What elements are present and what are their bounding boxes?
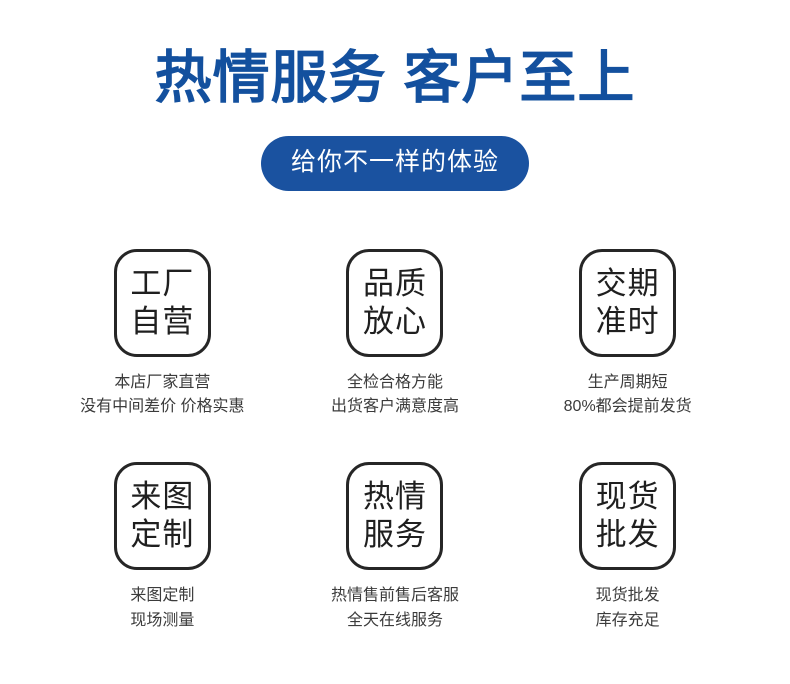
badge-line-1: 工厂 [130,265,194,303]
badge-box: 来图 定制 [114,462,211,570]
feature-card-on-time-delivery: 交期 准时 生产周期短 80%都会提前发货 [511,249,744,421]
caption-line-2: 全天在线服务 [331,609,459,634]
subtitle-container: 给你不一样的体验 [0,136,790,191]
banner-header: 热情服务 客户至上 给你不一样的体验 [0,0,790,191]
caption-line-1: 本店厂家直营 [80,371,244,396]
feature-caption: 本店厂家直营 没有中间差价 价格实惠 [80,371,244,421]
caption-line-1: 全检合格方能 [331,371,459,396]
badge-line-2: 批发 [596,516,660,554]
feature-card-custom-from-drawing: 来图 定制 来图定制 现场测量 [46,462,279,634]
badge-line-1: 交期 [596,265,660,303]
subtitle-badge: 给你不一样的体验 [261,136,529,191]
feature-caption: 来图定制 现场测量 [130,584,194,634]
badge-line-1: 品质 [363,265,427,303]
caption-line-1: 来图定制 [130,584,194,609]
caption-line-2: 没有中间差价 价格实惠 [80,395,244,420]
feature-caption: 全检合格方能 出货客户满意度高 [331,371,459,421]
badge-box: 品质 放心 [346,249,443,357]
caption-line-2: 出货客户满意度高 [331,395,459,420]
badge-line-1: 来图 [130,478,194,516]
badge-box: 现货 批发 [579,462,676,570]
feature-card-quality-assured: 品质 放心 全检合格方能 出货客户满意度高 [279,249,512,421]
badge-line-1: 现货 [596,478,660,516]
badge-line-2: 准时 [596,303,660,341]
feature-card-enthusiastic-service: 热情 服务 热情售前售后客服 全天在线服务 [279,462,512,634]
badge-line-2: 自营 [130,303,194,341]
feature-card-in-stock-wholesale: 现货 批发 现货批发 库存充足 [511,462,744,634]
badge-box: 交期 准时 [579,249,676,357]
caption-line-2: 现场测量 [130,609,194,634]
feature-grid: 工厂 自营 本店厂家直营 没有中间差价 价格实惠 品质 放心 全检合格方能 出货… [0,249,790,634]
badge-line-1: 热情 [363,478,427,516]
service-promise-banner: 热情服务 客户至上 给你不一样的体验 工厂 自营 本店厂家直营 没有中间差价 价… [0,0,790,684]
page-title: 热情服务 客户至上 [0,46,790,112]
feature-caption: 热情售前售后客服 全天在线服务 [331,584,459,634]
caption-line-2: 库存充足 [596,609,660,634]
caption-line-2: 80%都会提前发货 [564,395,692,420]
badge-line-2: 放心 [363,303,427,341]
badge-line-2: 服务 [363,516,427,554]
badge-line-2: 定制 [130,516,194,554]
badge-box: 热情 服务 [346,462,443,570]
caption-line-1: 生产周期短 [564,371,692,396]
feature-caption: 生产周期短 80%都会提前发货 [564,371,692,421]
caption-line-1: 热情售前售后客服 [331,584,459,609]
badge-box: 工厂 自营 [114,249,211,357]
feature-card-factory-direct: 工厂 自营 本店厂家直营 没有中间差价 价格实惠 [46,249,279,421]
feature-caption: 现货批发 库存充足 [596,584,660,634]
caption-line-1: 现货批发 [596,584,660,609]
